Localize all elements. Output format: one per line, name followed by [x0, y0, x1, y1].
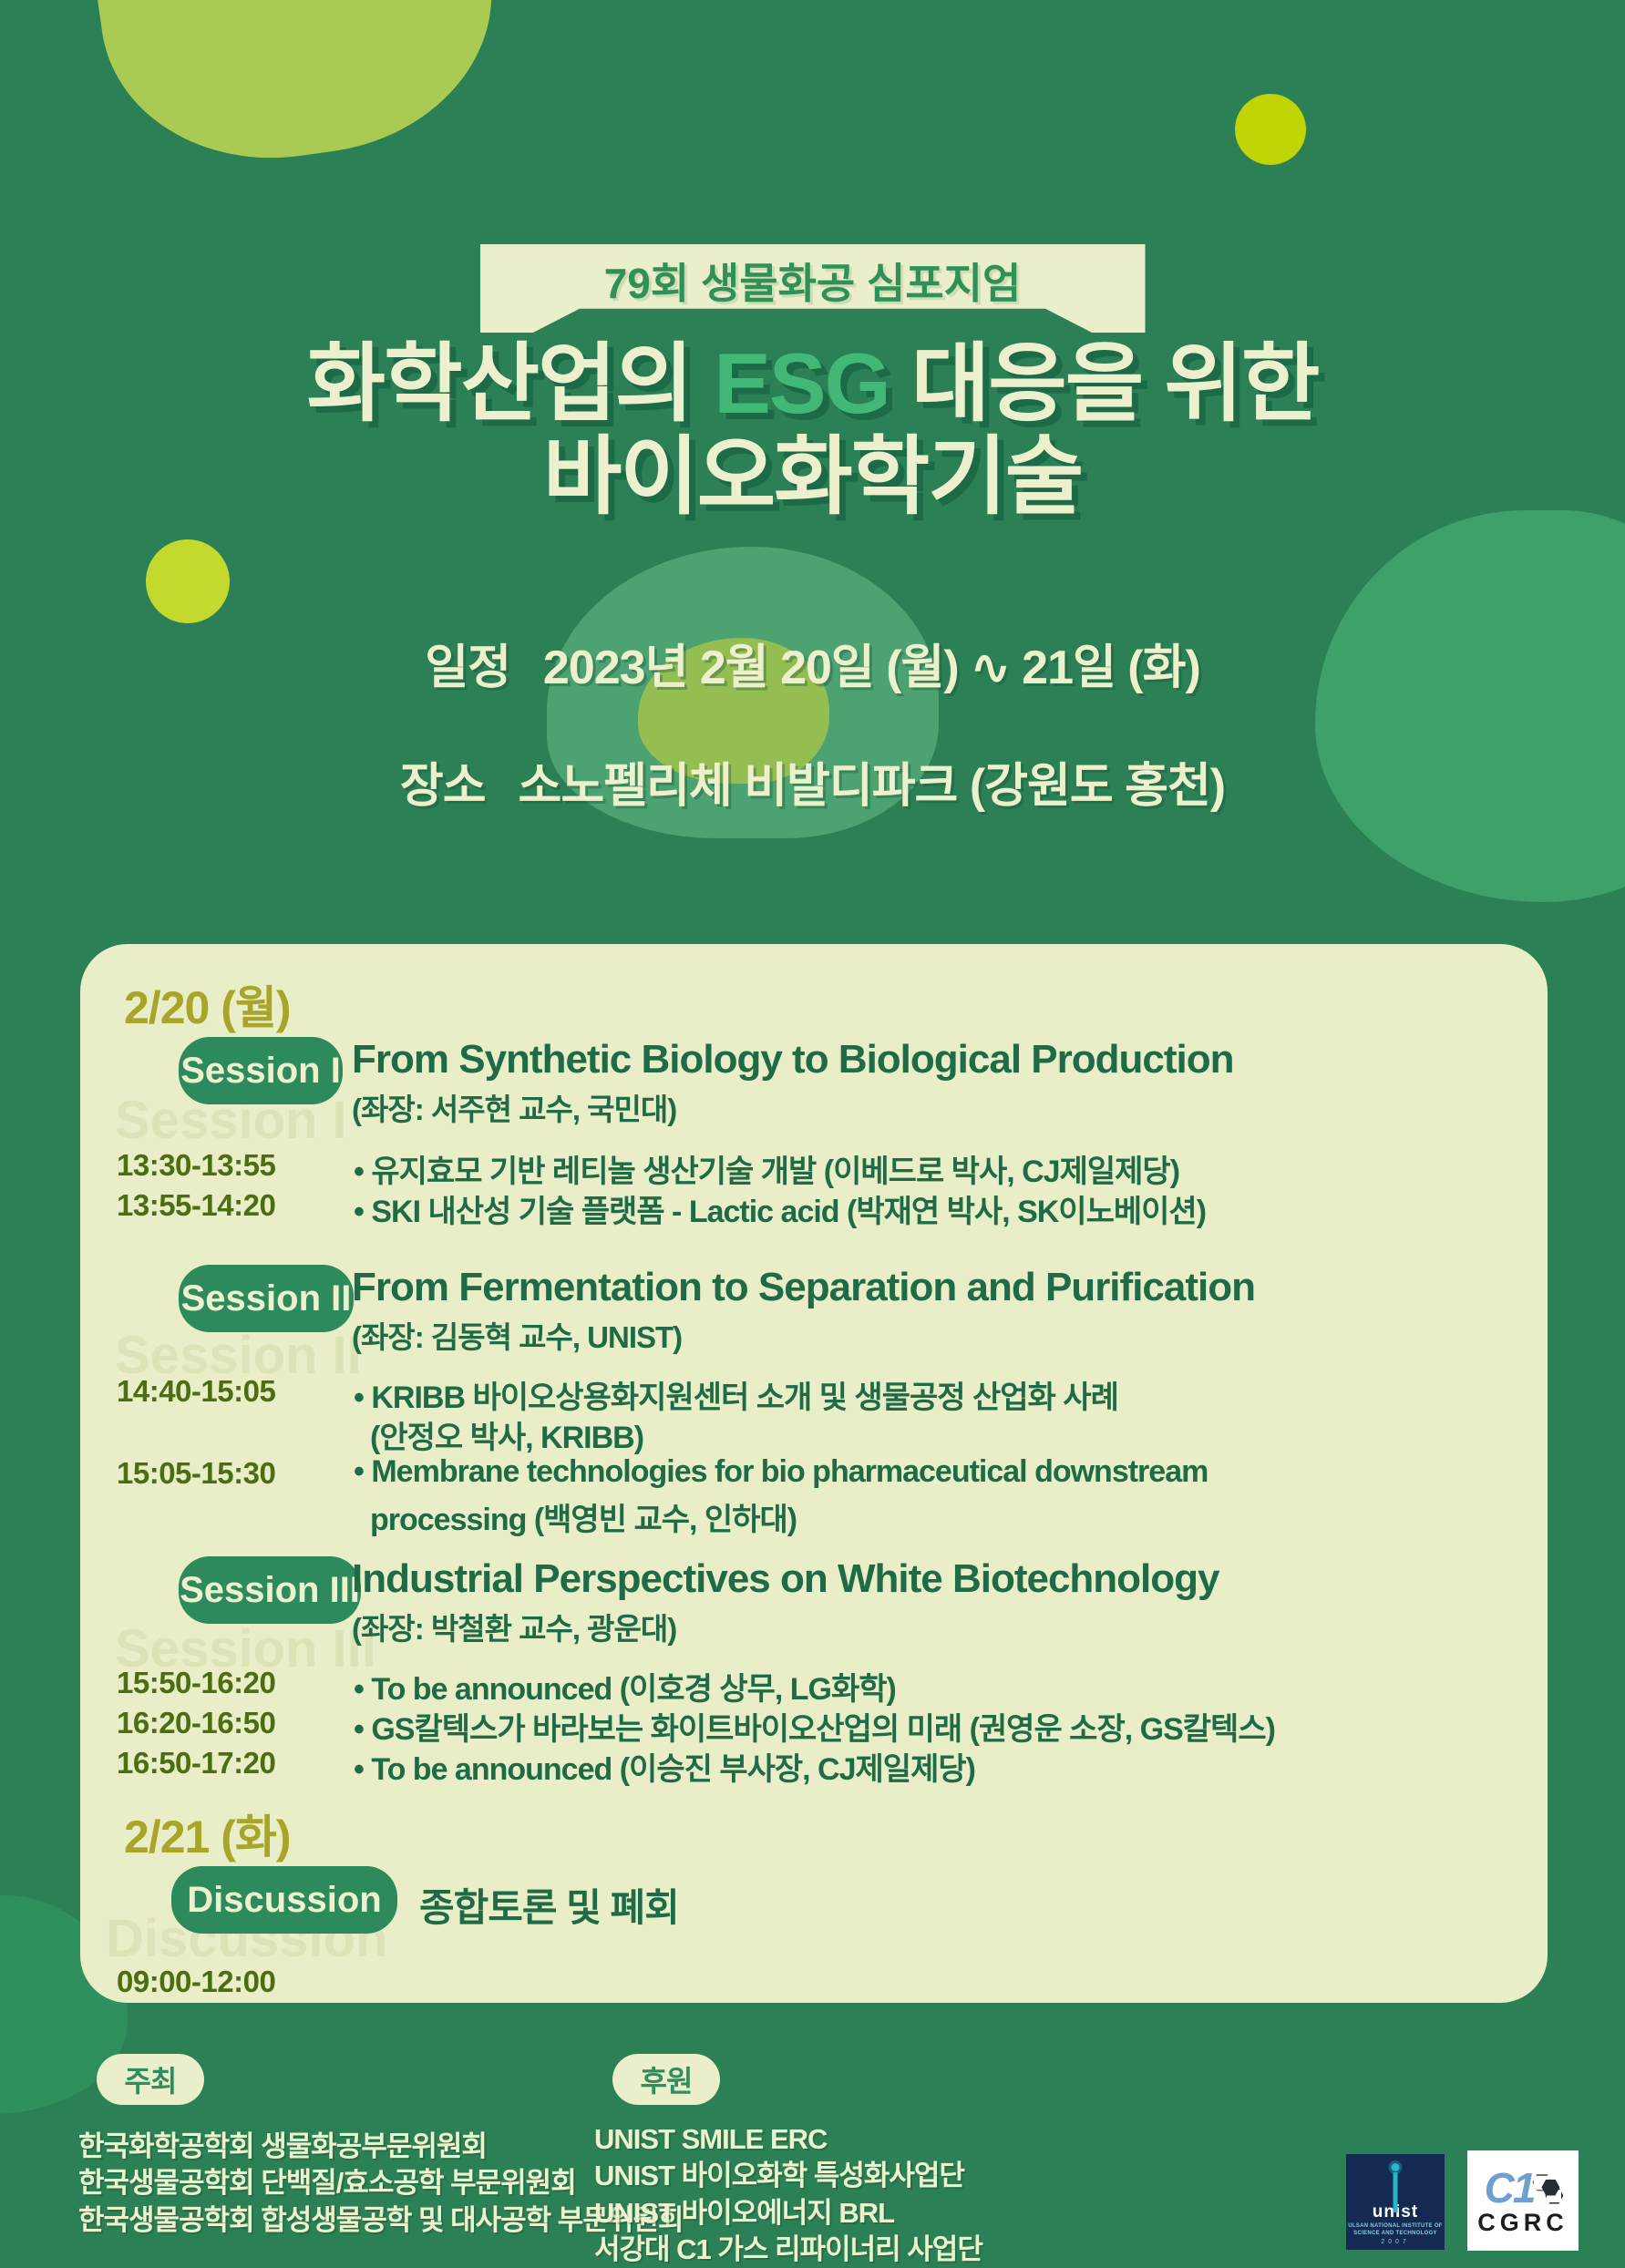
session-pill-3[interactable]: Session III — [179, 1556, 361, 1624]
talk-time: 16:50-17:20 — [117, 1746, 275, 1781]
event-date-row: 일정2023년 2월 20일 (월) ∿ 21일 (화) — [0, 629, 1625, 697]
cgrc-logo: C1 CGRC — [1467, 2150, 1579, 2251]
day-label-1: 2/20 (월) — [124, 971, 291, 1037]
page-title: 화학산업의 ESG 대응을 위한 바이오화학기술 — [0, 337, 1625, 522]
talk-text: • GS칼텍스가 바라보는 화이트바이오산업의 미래 (권영운 소장, GS칼텍… — [354, 1704, 1275, 1749]
event-venue-label: 장소 — [400, 760, 486, 813]
title-line-1-post: 대응을 위한 — [890, 335, 1319, 431]
ribbon-shape: 79회 생물화공 심포지엄 — [480, 244, 1146, 333]
session-chair-2: (좌장: 김동혁 교수, UNIST) — [352, 1313, 682, 1357]
host-line: 한국화학공학회 생물화공부문위원회 — [78, 2129, 683, 2165]
cgrc-c1-mark: C1 — [1485, 2167, 1535, 2209]
event-venue-row: 장소소노펠리체 비발디파크 (강원도 홍천) — [0, 747, 1625, 816]
sponsor-line: UNIST SMILE ERC — [594, 2121, 982, 2158]
discussion-text: 종합토론 및 폐회 — [419, 1877, 679, 1933]
host-chip: 주최 — [97, 2054, 204, 2105]
event-venue-value: 소노펠리체 비발디파크 (강원도 홍천) — [519, 760, 1226, 813]
talk-time: 13:30-13:55 — [117, 1148, 275, 1183]
talk-text: • KRIBB 바이오상용화지원센터 소개 및 생물공정 산업화 사례 — [354, 1372, 1118, 1417]
session-chair-1: (좌장: 서주현 교수, 국민대) — [352, 1085, 676, 1129]
session-chair-3: (좌장: 박철환 교수, 광운대) — [352, 1605, 676, 1648]
unist-logo: unist ULSAN NATIONAL INSTITUTE OF SCIENC… — [1346, 2154, 1445, 2250]
sponsor-chip: 후원 — [612, 2054, 720, 2105]
cgrc-top-row: C1 — [1485, 2167, 1562, 2209]
talk-time: 15:05-15:30 — [117, 1456, 275, 1491]
program-card: 2/20 (월) Session I Session I From Synthe… — [80, 944, 1548, 2003]
lime-dot-top-right — [1235, 94, 1306, 165]
ribbon-label: 79회 생물화공 심포지엄 — [604, 251, 1022, 311]
session-pill-2[interactable]: Session II — [179, 1265, 354, 1332]
talk-text: • SKI 내산성 기술 플랫폼 - Lactic acid (박재연 박사, … — [354, 1186, 1206, 1231]
unist-bar-icon — [1394, 2172, 1398, 2212]
lime-dot-middle-left — [146, 539, 230, 623]
host-organizations: 한국화학공학회 생물화공부문위원회 한국생물공학회 단백질/효소공학 부문위원회… — [78, 2129, 683, 2239]
host-line: 한국생물공학회 단백질/효소공학 부문위원회 — [78, 2165, 683, 2201]
title-line-2: 바이오화학기술 — [0, 430, 1625, 523]
talk-text: • Membrane technologies for bio pharmace… — [354, 1454, 1208, 1490]
talk-time: 15:50-16:20 — [117, 1666, 275, 1700]
discussion-time: 09:00-12:00 — [117, 1965, 275, 1999]
talk-text-cont: (안정오 박사, KRIBB) — [370, 1412, 643, 1457]
session-title-3: Industrial Perspectives on White Biotech… — [352, 1556, 1219, 1602]
sponsor-line: UNIST 바이오에너지 BRL — [594, 2195, 982, 2232]
talk-text: • 유지효모 기반 레티놀 생산기술 개발 (이베드로 박사, CJ제일제당) — [354, 1146, 1179, 1191]
unist-year: 2007 — [1381, 2239, 1410, 2245]
unist-spark-icon — [1392, 2163, 1400, 2171]
host-line: 한국생물공학회 합성생물공학 및 대사공학 부문위원회 — [78, 2202, 683, 2239]
session-title-1: From Synthetic Biology to Biological Pro… — [352, 1037, 1233, 1083]
event-date-label: 일정 — [425, 641, 510, 694]
leaf-blob-top-left — [81, 0, 511, 180]
discussion-pill[interactable]: Discussion — [171, 1866, 397, 1934]
day-label-2: 2/21 (화) — [124, 1801, 291, 1866]
event-date-value: 2023년 2월 20일 (월) ∿ 21일 (화) — [543, 641, 1200, 694]
event-meta: 일정2023년 2월 20일 (월) ∿ 21일 (화) 장소소노펠리체 비발디… — [0, 629, 1625, 866]
talk-time: 16:20-16:50 — [117, 1706, 275, 1740]
talk-text: • To be announced (이호경 상무, LG화학) — [354, 1664, 896, 1709]
talk-text-cont: processing (백영빈 교수, 인하대) — [370, 1494, 797, 1539]
talk-time: 14:40-15:05 — [117, 1374, 275, 1409]
cgrc-wordmark: CGRC — [1477, 2211, 1568, 2235]
sponsor-line: 서강대 C1 가스 리파이너리 사업단 — [594, 2232, 982, 2268]
title-line-1: 화학산업의 ESG 대응을 위한 — [0, 337, 1625, 430]
title-esg-accent: ESG — [714, 335, 890, 431]
unist-subtitle: ULSAN NATIONAL INSTITUTE OF SCIENCE AND … — [1346, 2223, 1445, 2237]
title-line-1-pre: 화학산업의 — [307, 335, 715, 431]
session-pill-1[interactable]: Session I — [179, 1037, 343, 1104]
hexagon-icon — [1530, 2174, 1561, 2201]
ribbon-banner: 79회 생물화공 심포지엄 — [0, 244, 1625, 333]
talk-text: • To be announced (이승진 부사장, CJ제일제당) — [354, 1744, 975, 1789]
session-title-2: From Fermentation to Separation and Puri… — [352, 1265, 1255, 1310]
talk-time: 13:55-14:20 — [117, 1188, 275, 1223]
sponsor-line: UNIST 바이오화학 특성화사업단 — [594, 2158, 982, 2194]
sponsor-organizations: UNIST SMILE ERC UNIST 바이오화학 특성화사업단 UNIST… — [594, 2121, 982, 2268]
